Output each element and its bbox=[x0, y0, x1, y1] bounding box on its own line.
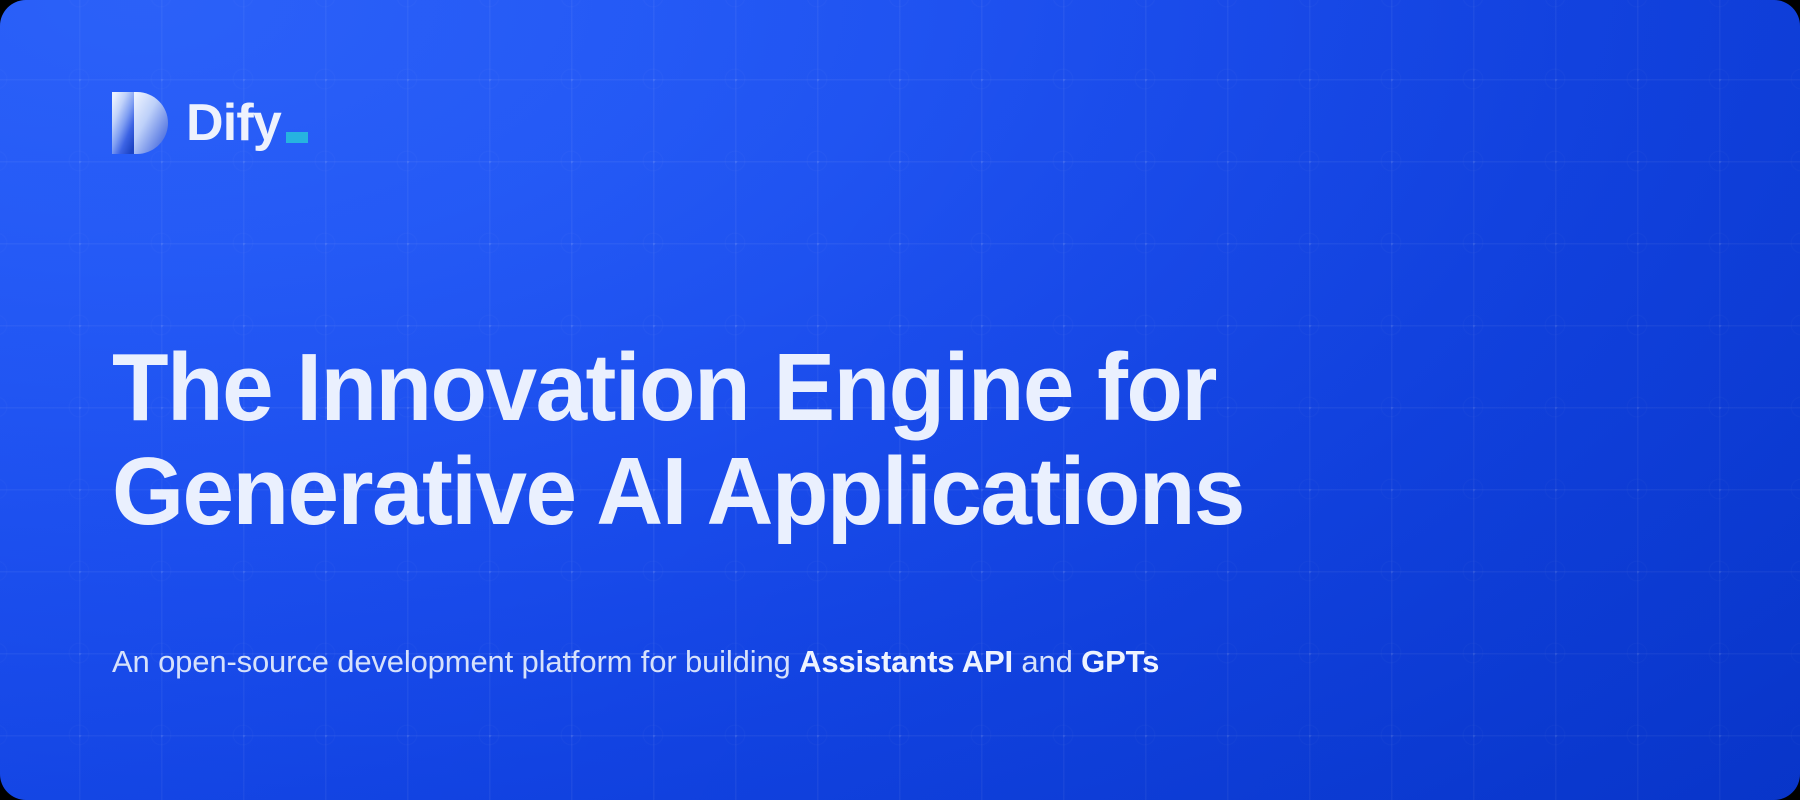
dify-logo-lockup[interactable]: Dify bbox=[112, 92, 308, 154]
teal-dash-accent-icon bbox=[286, 132, 308, 143]
hero-subtitle: An open-source development platform for … bbox=[112, 644, 1159, 680]
subtitle-emphasis-assistants-api: Assistants API bbox=[799, 644, 1013, 679]
dify-wordmark: Dify bbox=[186, 97, 281, 149]
subtitle-emphasis-gpts: GPTs bbox=[1081, 644, 1159, 679]
hero-banner: Dify The Innovation Engine for Generativ… bbox=[0, 0, 1800, 800]
hero-headline: The Innovation Engine for Generative AI … bbox=[112, 336, 1251, 544]
headline-line-2: Generative AI Applications bbox=[112, 440, 1251, 544]
subtitle-conjunction: and bbox=[1013, 644, 1081, 679]
subtitle-lead: An open-source development platform for … bbox=[112, 644, 799, 679]
dify-d-mark-icon bbox=[112, 92, 168, 154]
dify-wordmark-group: Dify bbox=[186, 97, 308, 149]
headline-line-1: The Innovation Engine for bbox=[112, 336, 1251, 440]
